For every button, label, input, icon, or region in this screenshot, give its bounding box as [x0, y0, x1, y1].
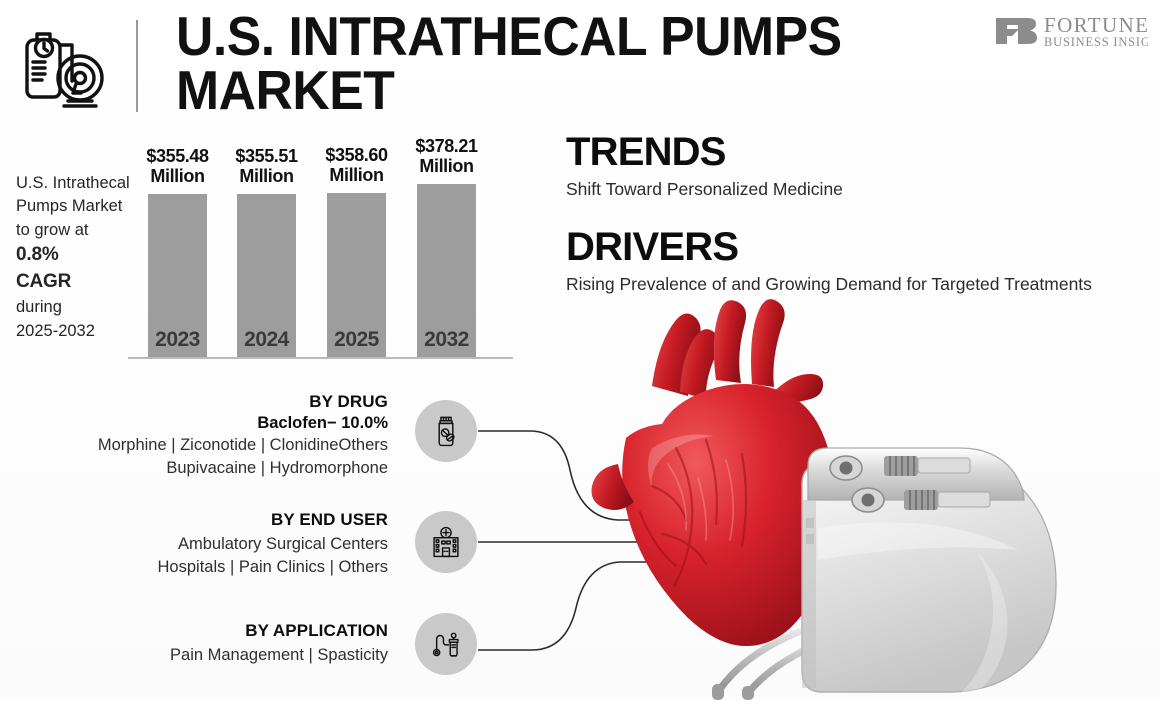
cagr-metric: CAGR	[16, 271, 71, 292]
infographic-root: U.S. INTRATHECAL PUMPS MARKET FORTUNE BU…	[0, 0, 1160, 700]
segment-by-end-user-text: BY END USER Ambulatory Surgical Centers …	[40, 510, 388, 578]
logo-brand: FORTUNE	[1044, 13, 1148, 37]
segment-by-end-user-title: BY END USER	[40, 510, 388, 530]
segment-by-application-title: BY APPLICATION	[40, 621, 388, 641]
bar-category-2024: 2024	[231, 328, 302, 352]
logo-tagline: BUSINESS INSIGHTS	[1044, 35, 1148, 49]
header-divider	[136, 20, 138, 112]
cagr-period: 2025-2032	[16, 322, 95, 340]
pill-bottle-icon	[415, 400, 477, 462]
segment-by-end-user-line-1: Ambulatory Surgical Centers	[40, 534, 388, 555]
segment-by-drug-line-1: Morphine | Ziconotide | ClonidineOthers	[40, 435, 388, 456]
trends-heading: TRENDS	[566, 132, 843, 172]
cagr-line1: U.S. Intrathecal	[16, 174, 130, 192]
cagr-callout: U.S. Intrathecal Pumps Market to grow at…	[16, 172, 138, 343]
infusion-pump-icon	[14, 22, 114, 112]
segment-by-application-text: BY APPLICATION Pain Management | Spastic…	[40, 621, 388, 666]
segment-by-end-user-line-2: Hospitals | Pain Clinics | Others	[40, 557, 388, 578]
segment-by-application-line-1: Pain Management | Spasticity	[40, 645, 388, 666]
bar-category-2025: 2025	[321, 328, 392, 352]
hospital-icon	[415, 511, 477, 573]
market-bar-chart: U.S. Intrathecal Pumps Market to grow at…	[0, 130, 540, 370]
bar-category-2023: 2023	[142, 328, 213, 352]
page-title: U.S. INTRATHECAL PUMPS MARKET	[176, 10, 909, 118]
cagr-line3: to grow at	[16, 221, 88, 239]
chart-axis	[128, 357, 513, 359]
fortune-business-insights-logo: FORTUNE BUSINESS INSIGHTS	[988, 8, 1148, 52]
drivers-heading: DRIVERS	[566, 227, 1092, 267]
cagr-rate: 0.8%	[16, 244, 59, 265]
segment-by-drug-text: BY DRUG Baclofen− 10.0% Morphine | Zicon…	[40, 392, 388, 479]
cagr-line2: Pumps Market	[16, 197, 122, 215]
bar-value-label-2032: $378.21Million	[393, 136, 500, 176]
cagr-line6: during	[16, 298, 62, 316]
segment-by-drug-title: BY DRUG	[40, 392, 388, 412]
trends-text: Shift Toward Personalized Medicine	[566, 179, 843, 201]
trends-block: TRENDS Shift Toward Personalized Medicin…	[566, 132, 843, 201]
drivers-block: DRIVERS Rising Prevalence of and Growing…	[566, 227, 1092, 296]
segment-by-drug-leader: Baclofen− 10.0%	[40, 414, 388, 433]
segment-by-drug-line-2: Bupivacaine | Hydromorphone	[40, 458, 388, 479]
bar-category-2032: 2032	[411, 328, 482, 352]
anatomical-heart-with-implantable-pump	[556, 288, 1160, 700]
infusion-device-icon	[415, 613, 477, 675]
